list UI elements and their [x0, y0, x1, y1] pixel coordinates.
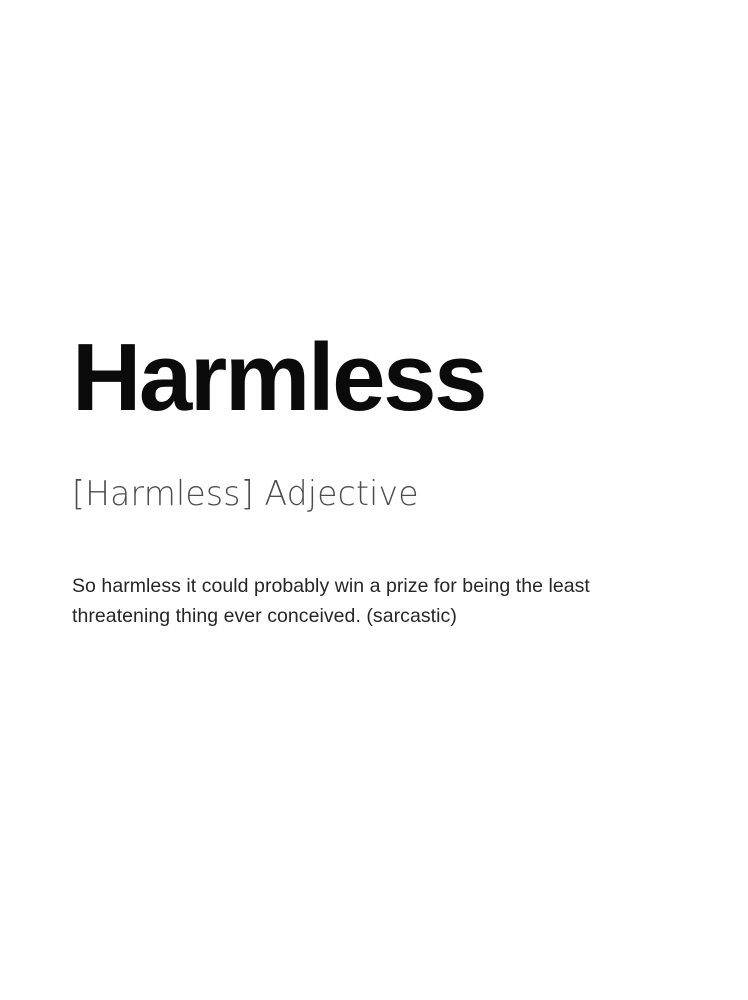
definition-poster: Harmless [Harmless] Adjective So harmles…: [0, 0, 748, 1000]
page-title: Harmless: [72, 330, 682, 426]
word-description: So harmless it could probably win a priz…: [72, 571, 632, 631]
definition-block: Harmless [Harmless] Adjective So harmles…: [72, 330, 682, 631]
word-part-of-speech: [Harmless] Adjective: [72, 476, 682, 510]
